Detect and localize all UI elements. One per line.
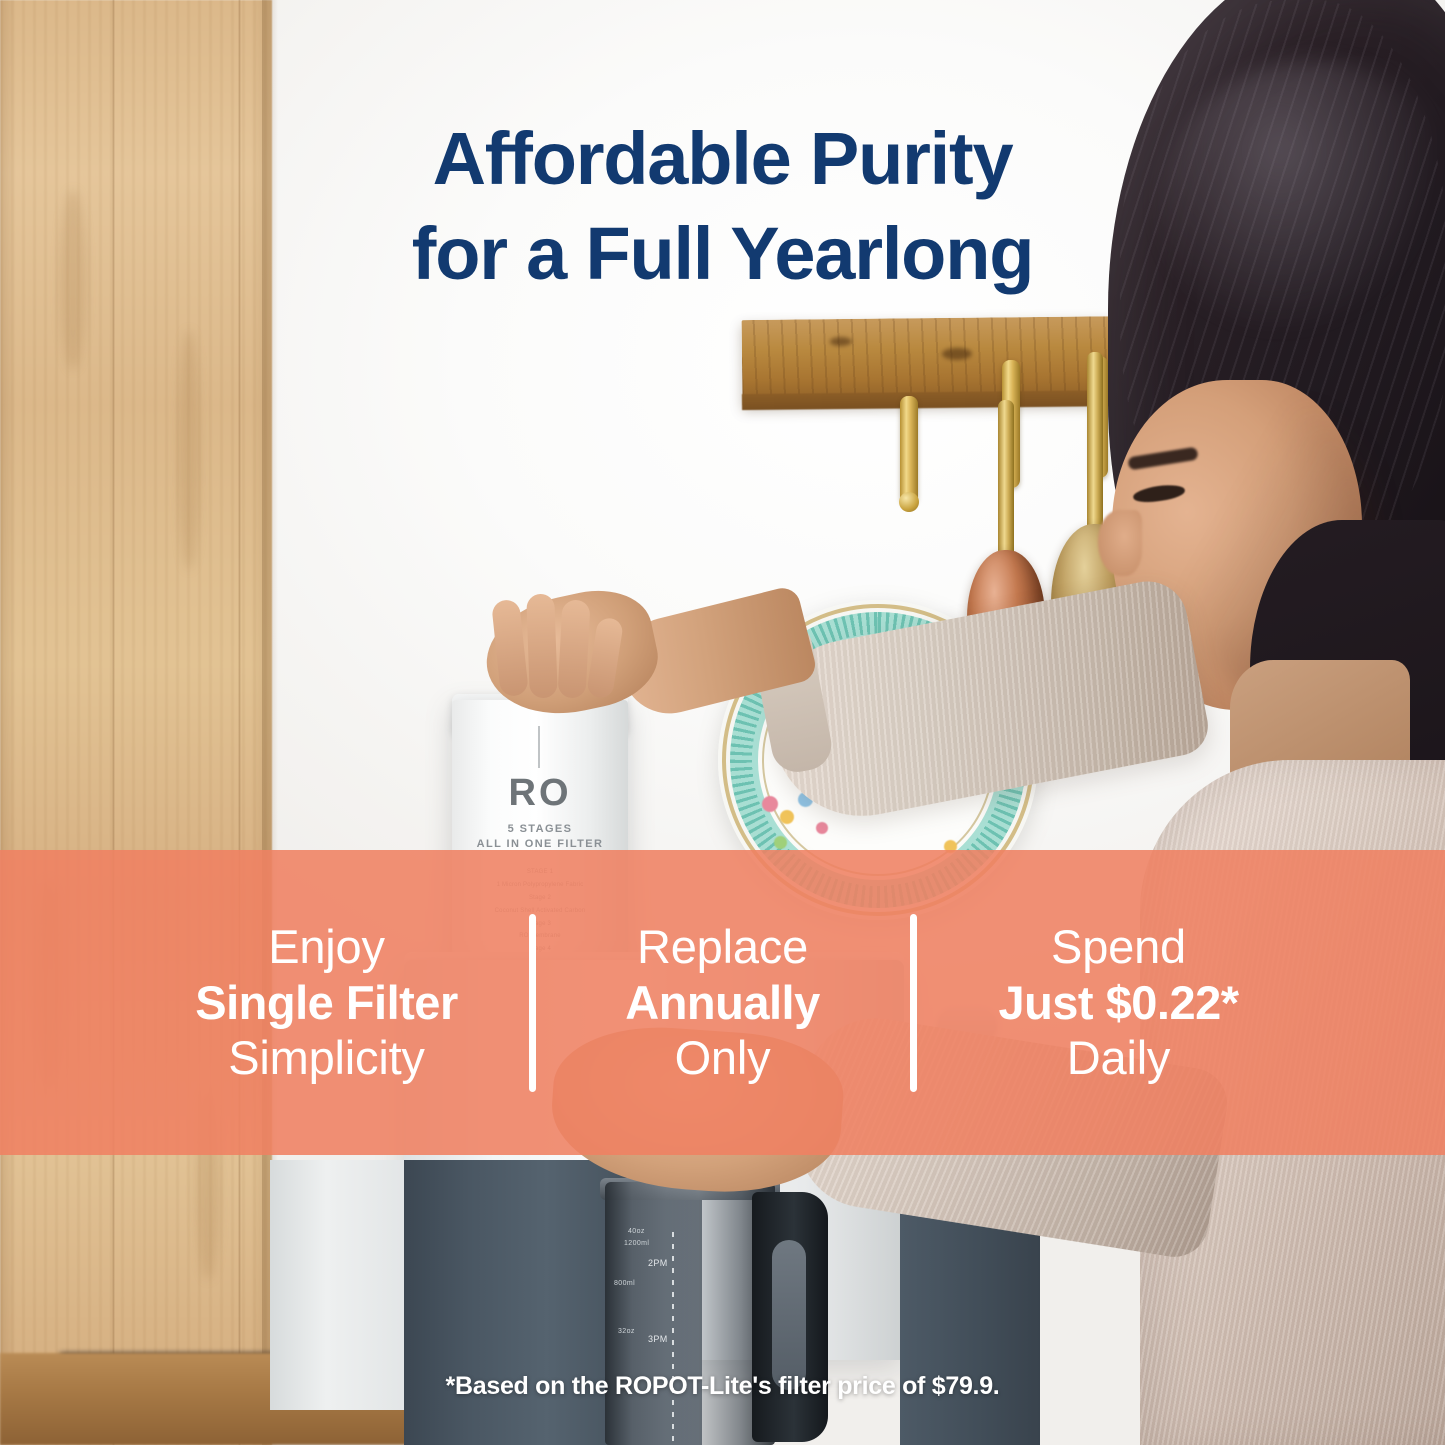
plate-floral-motif	[780, 810, 794, 824]
carafe-mark-3pm: 3PM	[648, 1334, 668, 1344]
scoop-handle	[1087, 352, 1103, 542]
wood-knot	[830, 337, 852, 346]
feature-2-trail: Only	[568, 1030, 878, 1085]
cartridge-ro-label: RO	[452, 772, 628, 815]
cartridge-seam	[538, 726, 540, 768]
feature-3-trail: Daily	[949, 1030, 1289, 1085]
carafe-mark-1200ml: 1200ml	[624, 1240, 649, 1247]
headline-line-1: Affordable Purity	[0, 112, 1445, 207]
feature-replace-annually: Replace Annually Only	[558, 919, 888, 1085]
carafe-mark-800ml: 800ml	[614, 1280, 635, 1287]
wood-grain-mark	[178, 330, 200, 570]
feature-2-lead: Replace	[568, 919, 878, 974]
water-carafe	[605, 1182, 775, 1445]
feature-divider-1	[529, 914, 536, 1092]
feature-divider-2	[910, 914, 917, 1092]
feature-banner: Enjoy Single Filter Simplicity Replace A…	[0, 850, 1445, 1155]
brass-hook-ball	[899, 492, 919, 512]
feature-1-trail: Simplicity	[157, 1030, 497, 1085]
footnote-disclaimer: *Based on the ROPOT-Lite's filter price …	[0, 1372, 1445, 1401]
wood-knot	[942, 348, 972, 360]
headline: Affordable Purity for a Full Yearlong	[0, 112, 1445, 301]
feature-3-lead: Spend	[949, 919, 1289, 974]
headline-line-2: for a Full Yearlong	[0, 207, 1445, 302]
scoop-handle	[998, 400, 1014, 570]
cartridge-subtitle: 5 STAGES ALL IN ONE FILTER	[452, 822, 628, 852]
feature-daily-cost: Spend Just $0.22* Daily	[939, 919, 1299, 1085]
plate-floral-motif	[762, 796, 778, 812]
woman-finger	[526, 594, 558, 699]
carafe-handle-opening	[772, 1240, 806, 1390]
carafe-measure-scale	[672, 1232, 674, 1442]
woman-finger	[557, 599, 590, 698]
advertisement-image: RO 5 STAGES ALL IN ONE FILTER STAGE 1 1 …	[0, 0, 1445, 1445]
feature-1-lead: Enjoy	[157, 919, 497, 974]
feature-3-emphasis: Just $0.22*	[949, 975, 1289, 1030]
woman-nose	[1098, 510, 1142, 576]
cartridge-subtitle-line1: 5 STAGES	[452, 822, 628, 837]
plate-floral-motif	[774, 836, 787, 849]
feature-1-emphasis: Single Filter	[157, 975, 497, 1030]
brass-hook	[900, 396, 918, 504]
carafe-mark-32oz: 32oz	[618, 1328, 635, 1335]
carafe-mark-40oz: 40oz	[628, 1228, 645, 1235]
feature-single-filter: Enjoy Single Filter Simplicity	[147, 919, 507, 1085]
carafe-mark-2pm: 2PM	[648, 1258, 668, 1268]
plate-floral-motif	[816, 822, 828, 834]
feature-2-emphasis: Annually	[568, 975, 878, 1030]
